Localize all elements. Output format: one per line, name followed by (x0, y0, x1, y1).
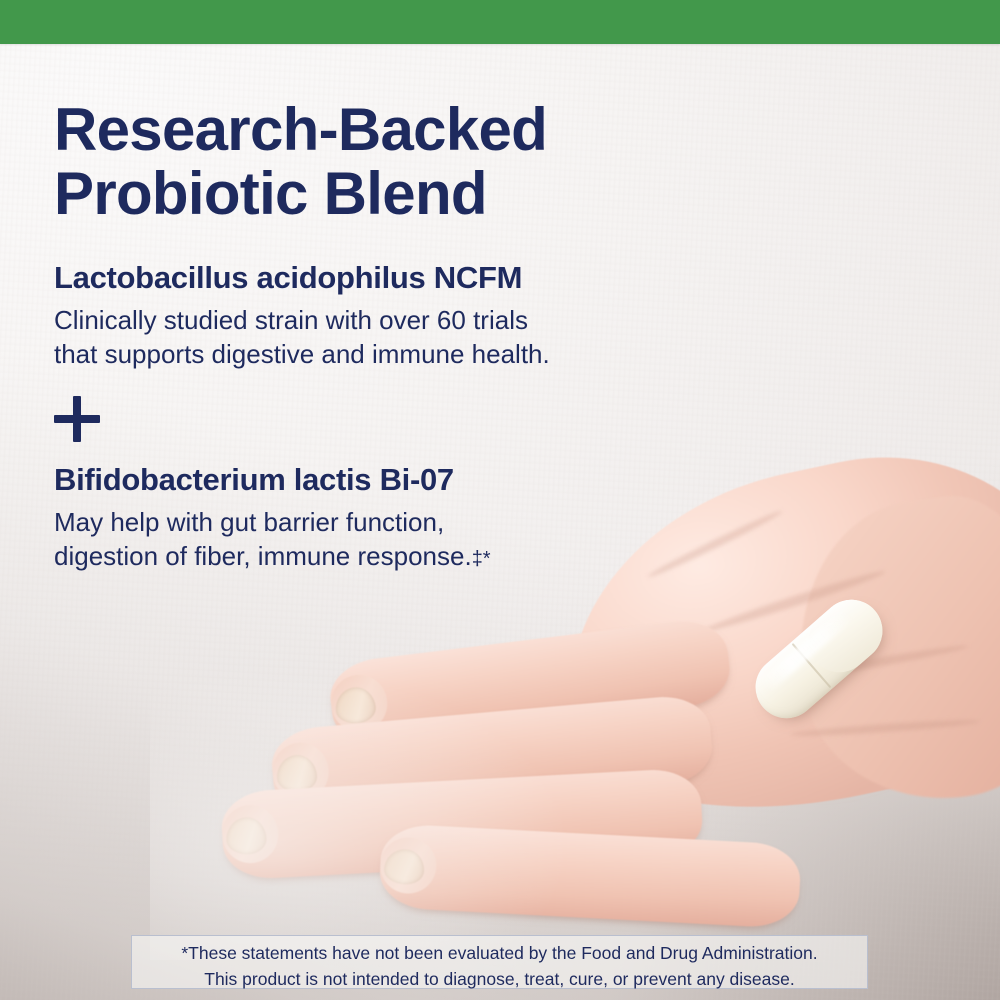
strain-name-1: Lactobacillus acidophilus NCFM (54, 260, 694, 296)
footnote-marks: ‡* (472, 548, 491, 570)
strain-description-1: Clinically studied strain with over 60 t… (54, 304, 694, 372)
plus-separator (54, 396, 694, 448)
page-title: Research-Backed Probiotic Blend (54, 98, 694, 226)
finger-pinky (378, 823, 802, 929)
fda-disclaimer: *These statements have not been evaluate… (131, 935, 868, 989)
text-content: Research-Backed Probiotic Blend Lactobac… (54, 98, 694, 574)
plus-icon (54, 396, 100, 442)
strain-description-2: May help with gut barrier function, dige… (54, 506, 694, 574)
strain-block-1: Lactobacillus acidophilus NCFM Clinicall… (54, 260, 694, 372)
strain-name-2: Bifidobacterium lactis Bi-07 (54, 462, 694, 498)
strain-block-2: Bifidobacterium lactis Bi-07 May help wi… (54, 462, 694, 574)
product-infographic: Research-Backed Probiotic Blend Lactobac… (0, 0, 1000, 1000)
strain-description-2-text: May help with gut barrier function, dige… (54, 507, 472, 571)
